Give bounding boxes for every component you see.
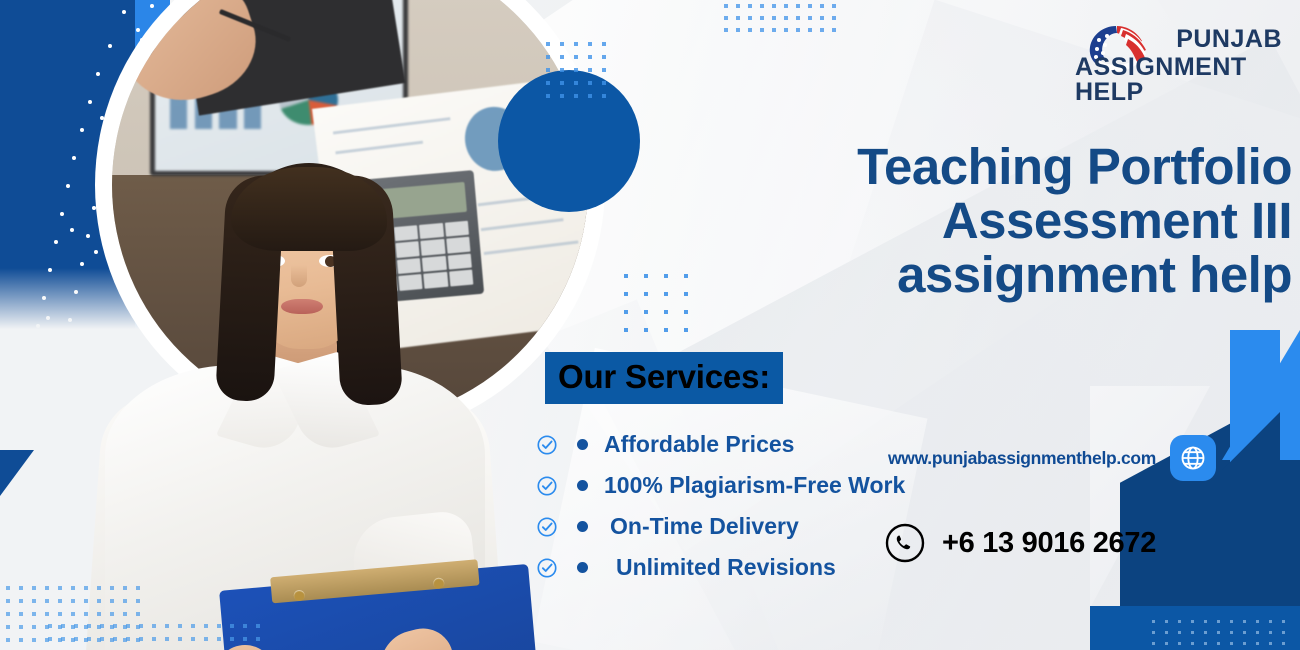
brand-logo[interactable]: PUNJAB ASSIGNMENT HELP <box>1075 18 1290 84</box>
clipboard-clip <box>270 559 479 603</box>
check-circle-icon <box>536 475 558 497</box>
promotional-banner: PUNJAB ASSIGNMENT HELP Teaching Portfoli… <box>0 0 1300 650</box>
photo-circle <box>112 0 588 423</box>
blue-clipboard <box>219 564 547 650</box>
phone-row[interactable]: +6 13 9016 2672 <box>884 522 1156 564</box>
check-circle-icon <box>536 434 558 456</box>
logo-line-punjab: PUNJAB <box>1176 27 1282 52</box>
photo-calculator <box>354 171 483 305</box>
blue-circle-decoration <box>498 70 640 212</box>
website-row[interactable]: www.punjabassignmenthelp.com <box>888 435 1216 481</box>
headline-line-3: assignment help <box>700 248 1292 302</box>
check-circle-icon <box>536 516 558 538</box>
arm <box>349 509 484 650</box>
hand-left <box>215 645 275 650</box>
headline-line-2: Assessment III <box>700 194 1292 248</box>
service-label: Unlimited Revisions <box>616 554 836 581</box>
page-title: Teaching Portfolio Assessment III assign… <box>700 140 1292 302</box>
left-corner-triangle <box>0 450 34 496</box>
footer-blue-band <box>1090 606 1300 650</box>
service-label: Affordable Prices <box>604 431 794 458</box>
bullet-dot <box>577 521 588 532</box>
service-label: On-Time Delivery <box>610 513 799 540</box>
phone-number[interactable]: +6 13 9016 2672 <box>942 527 1156 560</box>
bullet-dot <box>577 480 588 491</box>
phone-circle-icon <box>884 522 926 564</box>
website-url[interactable]: www.punjabassignmenthelp.com <box>888 448 1156 469</box>
bullet-dot <box>577 562 588 573</box>
hand-right <box>373 622 463 650</box>
service-label: 100% Plagiarism-Free Work <box>604 472 905 499</box>
bullet-dot <box>577 439 588 450</box>
headline-line-1: Teaching Portfolio <box>700 140 1292 194</box>
globe-icon <box>1170 435 1216 481</box>
check-circle-icon <box>536 557 558 579</box>
office-photo <box>112 0 588 423</box>
services-heading: Our Services: <box>545 352 783 404</box>
logo-line-assignment-help: ASSIGNMENT HELP <box>1075 55 1282 105</box>
